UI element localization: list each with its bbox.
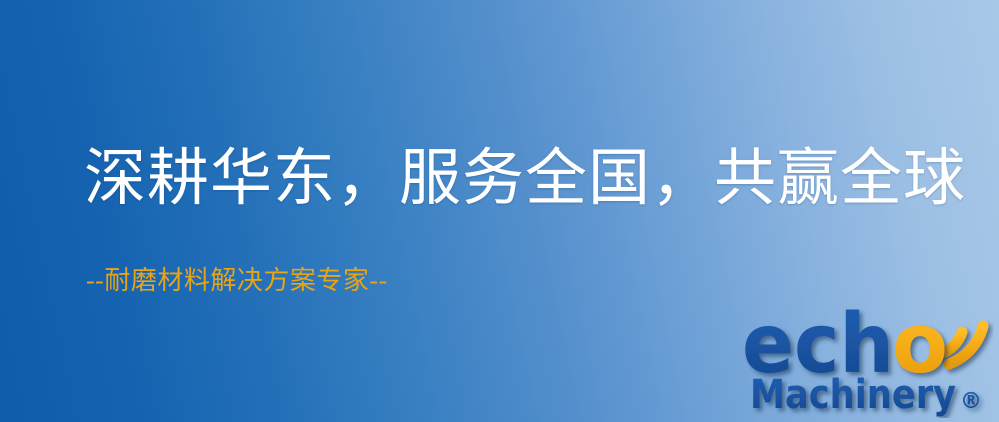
echo-machinery-logo[interactable]: ech o Machinery ®	[744, 296, 994, 418]
promo-banner: 深耕华东，服务全国，共赢全球 --耐磨材料解决方案专家--	[0, 0, 999, 422]
headline-text: 深耕华东，服务全国，共赢全球	[84, 148, 944, 210]
registered-trademark-icon: ®	[960, 389, 982, 414]
logo-machinery-text: Machinery	[750, 372, 956, 418]
subtitle-tagline: --耐磨材料解决方案专家--	[86, 268, 388, 294]
